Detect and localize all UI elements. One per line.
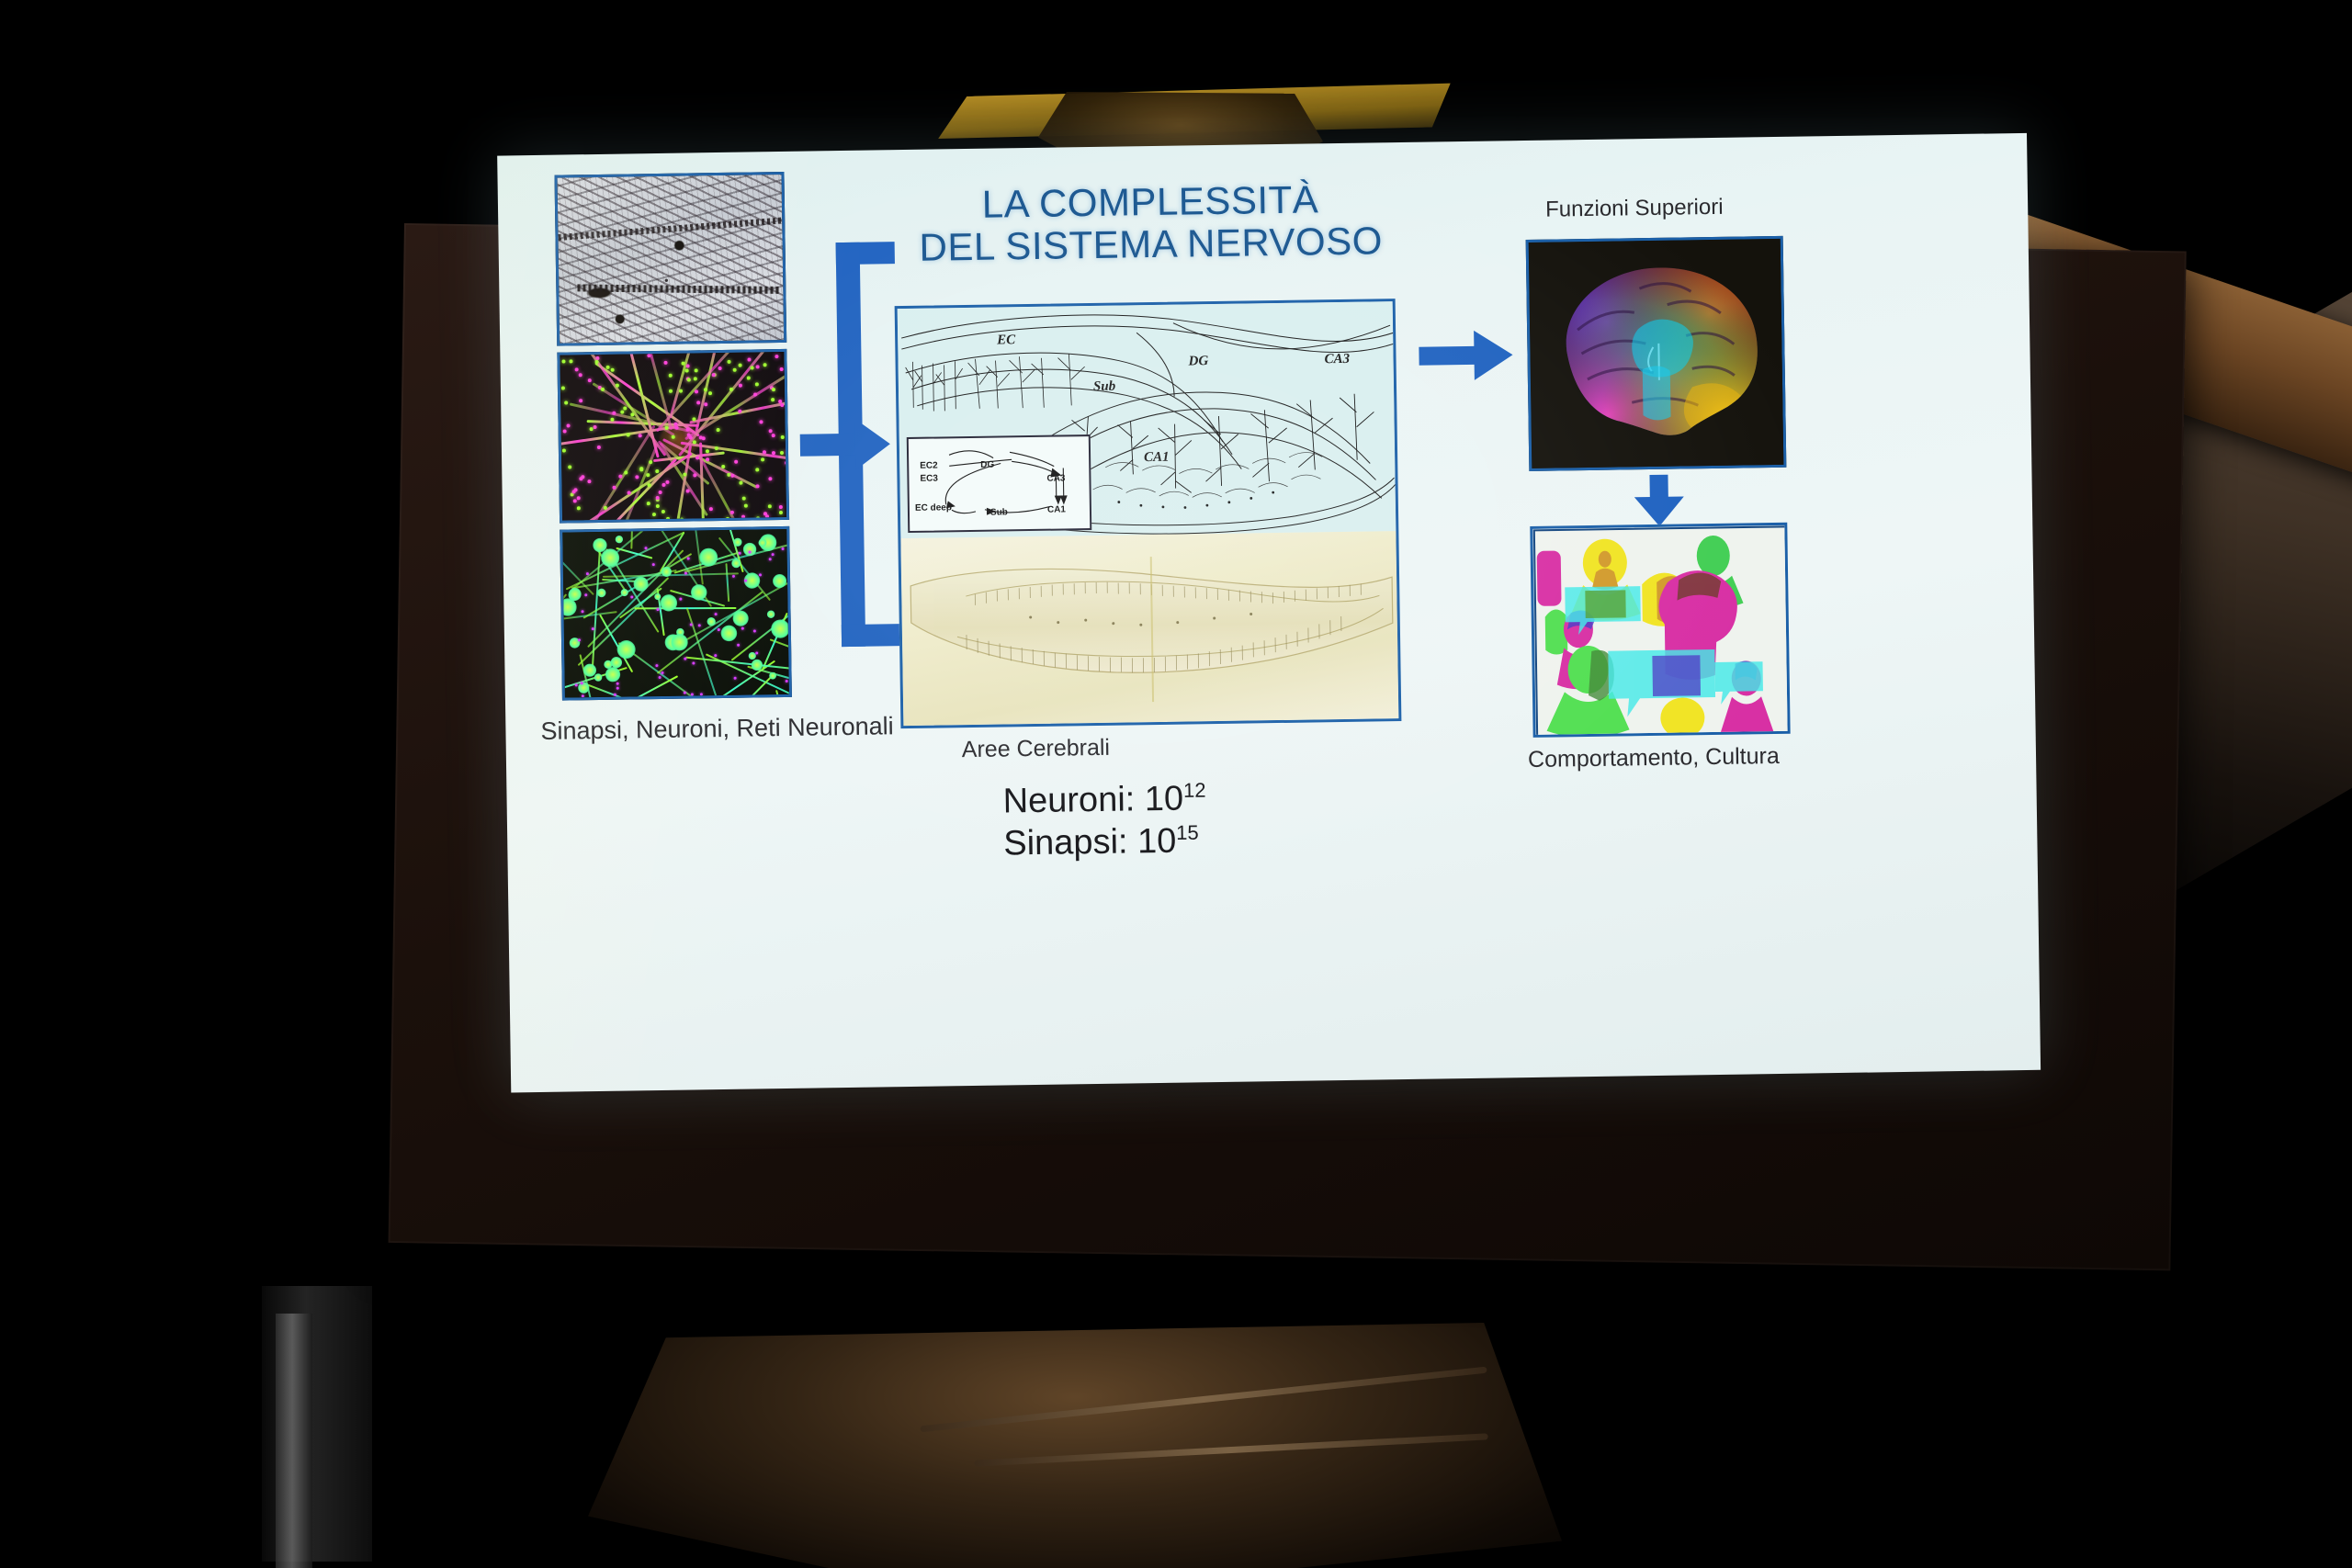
synaptic-punctum — [679, 389, 683, 392]
neurite — [634, 607, 736, 610]
hippocampus-circuit-inset: EC2 EC3 DG CA3 CA1 EC deep Sub — [907, 434, 1092, 533]
synaptic-punctum — [743, 504, 747, 508]
magenta-punctum — [732, 574, 735, 577]
synaptic-punctum — [755, 484, 759, 488]
hippocampus-circuit-drawing: EC DG CA3 Sub CA1 — [898, 301, 1396, 538]
caption-right-bottom: Comportamento, Cultura — [1528, 743, 1780, 773]
arrow-head — [1474, 330, 1513, 380]
synaptic-punctum — [708, 508, 712, 512]
magenta-punctum — [738, 551, 741, 554]
equipment-pole — [276, 1314, 312, 1568]
magenta-punctum — [690, 623, 693, 626]
synaptic-punctum — [775, 355, 778, 358]
neurons-stat: Neuroni: 1012 — [1002, 777, 1206, 823]
synaptic-punctum — [562, 360, 566, 364]
synaptic-punctum — [656, 504, 660, 508]
synaptic-punctum — [755, 468, 759, 472]
magenta-punctum — [585, 572, 588, 575]
synaptic-punctum — [704, 388, 707, 391]
people-silhouettes — [1530, 523, 1790, 738]
cell-body — [769, 672, 776, 680]
synapses-stat: Sinapsi: 1015 — [1003, 820, 1207, 866]
synaptic-punctum — [780, 435, 784, 439]
magenta-punctum — [656, 664, 659, 667]
synaptic-punctum — [695, 389, 698, 393]
magenta-punctum — [700, 694, 703, 696]
cell-body — [578, 682, 589, 693]
magenta-punctum — [741, 626, 744, 629]
magenta-punctum — [734, 676, 737, 679]
magenta-punctum — [786, 680, 788, 682]
presentation-slide[interactable]: LA COMPLESSITÀ DEL SISTEMA NERVOSO — [497, 133, 2041, 1093]
synaptic-punctum — [604, 506, 607, 510]
synaptic-punctum — [646, 473, 650, 477]
neurons-label: Neuroni: 10 — [1002, 780, 1183, 821]
synaptic-punctum — [627, 434, 630, 437]
bracket-bottom — [842, 624, 900, 647]
magenta-punctum — [616, 682, 618, 685]
synaptic-punctum — [663, 361, 667, 365]
synaptic-punctum — [718, 367, 722, 370]
neuron-canvas — [560, 352, 786, 521]
inset-label-dg: DG — [980, 459, 994, 469]
slice-svg — [900, 531, 1398, 726]
synaptic-punctum — [729, 388, 732, 391]
synaptic-punctum — [693, 474, 696, 478]
synaptic-punctum — [577, 506, 581, 510]
synaptic-punctum — [639, 434, 642, 437]
synaptic-punctum — [686, 365, 690, 368]
magenta-punctum — [585, 593, 588, 596]
synaptic-punctum — [730, 511, 734, 514]
magenta-punctum — [737, 643, 740, 646]
caption-right-top: Funzioni Superiori — [1545, 195, 1724, 223]
synaptic-punctum — [769, 478, 773, 481]
synaptic-punctum — [649, 461, 652, 465]
magenta-punctum — [698, 624, 701, 626]
synaptic-punctum — [573, 499, 577, 502]
cell-body — [634, 577, 649, 592]
synaptic-punctum — [582, 475, 585, 479]
arrow-brain-to-people — [1634, 474, 1686, 526]
magenta-punctum — [614, 693, 616, 695]
cell-body — [733, 537, 741, 546]
synaptic-punctum — [651, 513, 655, 516]
synapses-label: Sinapsi: 10 — [1003, 822, 1177, 863]
synaptic-punctum — [666, 517, 670, 520]
magenta-punctum — [578, 638, 581, 641]
synaptic-punctum — [635, 475, 639, 479]
synaptic-punctum — [739, 409, 742, 412]
inset-label-ec-deep: EC deep — [915, 502, 952, 513]
people-svg — [1532, 525, 1790, 738]
synaptic-punctum — [780, 451, 784, 455]
cell-body — [620, 589, 628, 596]
bracket-arrowhead — [854, 418, 890, 470]
synaptic-punctum — [569, 359, 572, 363]
synaptic-punctum — [579, 373, 582, 377]
synaptic-punctum — [695, 456, 699, 459]
synaptic-punctum — [772, 388, 775, 391]
stats-block: Neuroni: 1012 Sinapsi: 1015 — [1002, 777, 1206, 865]
synaptic-punctum — [755, 382, 759, 386]
synaptic-punctum — [561, 387, 565, 390]
synaptic-punctum — [569, 466, 572, 469]
cell-body — [615, 536, 622, 543]
hippo-label-dg: DG — [1188, 354, 1208, 369]
cell-body — [617, 640, 636, 659]
synaptic-punctum — [728, 360, 731, 364]
synaptic-punctum — [747, 376, 751, 379]
synaptic-punctum — [726, 517, 729, 520]
synaptic-punctum — [739, 384, 742, 388]
hippo-label-ca3: CA3 — [1324, 352, 1350, 367]
synaptic-punctum — [768, 504, 772, 508]
synaptic-punctum — [675, 426, 679, 430]
synaptic-punctum — [563, 429, 567, 433]
synapses-exponent: 15 — [1176, 821, 1199, 844]
synaptic-punctum — [686, 434, 690, 437]
synaptic-punctum — [577, 496, 581, 500]
inset-label-sub: Sub — [990, 507, 1008, 517]
arrow-center-to-brain — [1419, 329, 1521, 382]
synaptic-punctum — [669, 389, 673, 393]
magenta-punctum — [581, 610, 583, 613]
synaptic-punctum — [655, 469, 659, 473]
synaptic-punctum — [589, 427, 593, 431]
synaptic-punctum — [597, 446, 601, 449]
neurite — [725, 563, 729, 602]
cell-body — [732, 611, 748, 626]
synaptic-punctum — [706, 457, 709, 461]
synaptic-punctum — [579, 399, 582, 402]
arrow-head — [1634, 496, 1684, 526]
projection-screen: LA COMPLESSITÀ DEL SISTEMA NERVOSO — [389, 223, 2187, 1270]
synaptic-punctum — [779, 511, 783, 514]
synaptic-punctum — [681, 362, 684, 366]
synaptic-punctum — [588, 379, 592, 383]
magenta-punctum — [679, 598, 682, 601]
magenta-punctum — [782, 547, 785, 550]
synaptic-punctum — [567, 423, 571, 427]
synaptic-punctum — [730, 474, 734, 478]
synaptic-punctum — [661, 510, 665, 513]
bracket-arrow-left-to-center — [797, 242, 905, 648]
synaptic-punctum — [662, 483, 666, 487]
synaptic-punctum — [756, 517, 760, 521]
inset-label-ca3: CA3 — [1046, 473, 1065, 483]
synaptic-punctum — [665, 480, 669, 484]
synaptic-punctum — [759, 421, 763, 424]
brain-svg — [1529, 239, 1787, 471]
synaptic-punctum — [610, 368, 614, 372]
synaptic-punctum — [721, 465, 725, 468]
synaptic-punctum — [733, 368, 737, 372]
synapse-electron-micrograph — [554, 172, 786, 346]
magenta-punctum — [591, 627, 594, 630]
magenta-punctum — [645, 547, 648, 549]
fluorescent-neuron — [557, 349, 789, 524]
arrow-stem — [1419, 346, 1481, 366]
cell-body — [605, 667, 619, 682]
synaptic-punctum — [659, 491, 662, 494]
synaptic-punctum — [772, 451, 775, 455]
synaptic-punctum — [694, 377, 697, 380]
magenta-punctum — [582, 694, 584, 697]
dti-brain-scan — [1526, 236, 1787, 471]
synaptic-punctum — [606, 366, 610, 369]
synaptic-punctum — [685, 368, 689, 372]
synaptic-punctum — [734, 460, 738, 464]
room-scene: LA COMPLESSITÀ DEL SISTEMA NERVOSO — [0, 0, 2352, 1568]
cell-body — [691, 584, 707, 601]
synaptic-punctum — [575, 367, 579, 371]
synaptic-punctum — [786, 450, 786, 454]
title-line-2: DEL SISTEMA NERVOSO — [893, 220, 1408, 269]
em-texture — [558, 175, 785, 344]
magenta-punctum — [714, 613, 717, 615]
synaptic-punctum — [715, 446, 718, 450]
synaptic-punctum — [741, 515, 745, 519]
synaptic-punctum — [620, 411, 624, 414]
cell-body — [661, 567, 671, 577]
magenta-punctum — [753, 629, 756, 632]
synaptic-punctum — [716, 428, 719, 432]
magenta-punctum — [744, 579, 747, 581]
synaptic-punctum — [704, 402, 707, 406]
cell-body — [597, 589, 606, 598]
synaptic-punctum — [680, 518, 684, 521]
cell-body — [771, 620, 789, 639]
cell-body — [767, 610, 775, 618]
network-canvas — [562, 529, 789, 698]
synaptic-punctum — [562, 449, 566, 453]
synaptic-punctum — [769, 429, 773, 433]
synaptic-punctum — [594, 425, 597, 429]
synaptic-punctum — [765, 514, 769, 518]
caption-left: Sinapsi, Neuroni, Reti Neuronali — [540, 712, 894, 746]
synaptic-punctum — [706, 449, 709, 453]
magenta-punctum — [692, 661, 695, 664]
page-title: LA COMPLESSITÀ DEL SISTEMA NERVOSO — [893, 177, 1408, 270]
left-image-column — [554, 172, 792, 708]
synaptic-punctum — [683, 472, 686, 476]
cell-body — [773, 574, 786, 588]
foreground-object — [588, 1323, 1562, 1568]
inset-label-ca1: CA1 — [1047, 504, 1066, 514]
synaptic-punctum — [712, 374, 716, 378]
synaptic-punctum — [564, 400, 568, 404]
hippo-label-ca1: CA1 — [1144, 450, 1170, 466]
synaptic-punctum — [640, 467, 644, 470]
synaptic-punctum — [588, 480, 592, 484]
synaptic-punctum — [673, 423, 677, 426]
magenta-punctum — [661, 671, 663, 674]
hippocampus-histology-slice — [900, 531, 1398, 726]
center-hippocampus-panel: EC DG CA3 Sub CA1 — [895, 299, 1402, 728]
magenta-punctum — [659, 676, 661, 679]
synaptic-punctum — [748, 357, 752, 361]
magenta-punctum — [684, 657, 687, 660]
synaptic-punctum — [779, 367, 783, 371]
cell-body — [721, 626, 738, 642]
magenta-punctum — [772, 553, 775, 556]
synaptic-punctum — [738, 363, 741, 367]
inset-label-ec3: EC3 — [920, 473, 938, 483]
synaptic-punctum — [772, 398, 775, 401]
cell-body — [758, 538, 766, 547]
synaptic-punctum — [647, 502, 650, 505]
synaptic-punctum — [763, 363, 767, 367]
synaptic-punctum — [610, 417, 614, 421]
synaptic-punctum — [779, 505, 783, 509]
synaptic-punctum — [655, 496, 659, 500]
magenta-punctum — [687, 558, 690, 560]
synaptic-punctum — [756, 365, 760, 368]
synaptic-punctum — [781, 403, 785, 407]
caption-center: Aree Cerebrali — [962, 735, 1111, 763]
synaptic-punctum — [623, 406, 627, 410]
magenta-punctum — [759, 573, 762, 576]
synaptic-punctum — [572, 490, 576, 493]
magenta-punctum — [714, 654, 717, 657]
cell-body — [562, 598, 577, 616]
neurons-exponent: 12 — [1183, 779, 1206, 802]
synaptic-punctum — [742, 496, 746, 500]
synaptic-punctum — [687, 378, 691, 382]
synaptic-punctum — [616, 384, 619, 388]
synaptic-punctum — [672, 434, 675, 438]
synaptic-punctum — [708, 391, 712, 395]
hippo-label-sub: Sub — [1093, 379, 1115, 395]
magenta-punctum — [769, 558, 772, 560]
synaptic-punctum — [669, 373, 673, 377]
cell-body — [654, 593, 661, 600]
magenta-punctum — [652, 563, 655, 566]
magenta-punctum — [616, 687, 619, 690]
cell-body — [594, 673, 602, 682]
cell-body — [671, 633, 688, 650]
synaptic-punctum — [785, 461, 786, 465]
synaptic-punctum — [753, 392, 757, 396]
hippo-label-ec: EC — [997, 333, 1015, 348]
magenta-punctum — [717, 628, 719, 631]
synaptic-punctum — [772, 434, 775, 437]
synaptic-punctum — [686, 489, 690, 492]
synaptic-punctum — [624, 471, 628, 475]
synaptic-punctum — [761, 457, 764, 461]
synaptic-punctum — [751, 367, 754, 370]
synaptic-punctum — [695, 368, 698, 372]
synaptic-punctum — [699, 435, 703, 439]
neural-network-culture — [560, 526, 792, 701]
synaptic-punctum — [739, 480, 742, 484]
magenta-punctum — [755, 652, 758, 655]
inset-label-ec2: EC2 — [920, 460, 938, 470]
